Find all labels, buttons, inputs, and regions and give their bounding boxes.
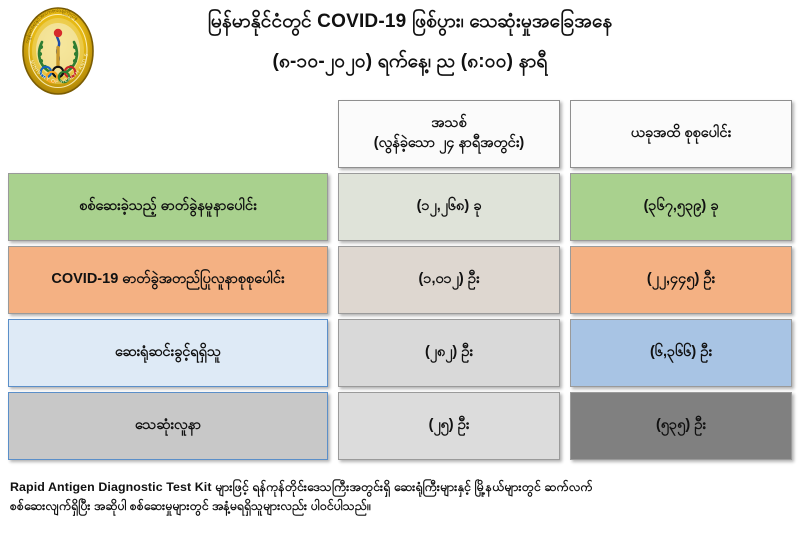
column-header-new: အသစ် (လွန်ခဲ့သော ၂၄ နာရီအတွင်း) [338, 100, 560, 168]
row-label-discharged: ဆေးရုံဆင်းခွင့်ရရှိသူ [8, 319, 328, 387]
table-row: COVID-19 ဓာတ်ခွဲအတည်ပြုလူနာစုစုပေါင်း (၁… [0, 246, 800, 314]
page-header: ကျန်းမာရေးနှင့်အားကစားဝန်ကြီးဌာန MINISTR… [0, 0, 800, 100]
row-label-deaths: သေဆုံးလူနာ [8, 392, 328, 460]
column-header-new-line1: အသစ် [374, 114, 524, 134]
table-header-row: အသစ် (လွန်ခဲ့သော ၂၄ နာရီအတွင်း) ယခုအထိ စ… [0, 100, 800, 168]
title-line-1: မြန်မာနိုင်ငံတွင် COVID-19 ဖြစ်ပွား၊ သေဆ… [110, 8, 710, 36]
column-header-new-line2: (လွန်ခဲ့သော ၂၄ နာရီအတွင်း) [374, 134, 524, 154]
footer-line-1: Rapid Antigen Diagnostic Test Kit များဖြ… [10, 478, 790, 497]
row-total-confirmed-cases: (၂၂,၄၄၅) ဦး [570, 246, 792, 314]
ministry-of-health-logo: ကျန်းမာရေးနှင့်အားကစားဝန်ကြီးဌာန MINISTR… [14, 6, 102, 96]
row-new-samples-tested: (၁၂,၂၆၈) ခု [338, 173, 560, 241]
header-label-spacer [8, 100, 328, 168]
row-total-samples-tested: (၃၆၇,၅၃၉) ခု [570, 173, 792, 241]
covid-summary-table: အသစ် (လွန်ခဲ့သော ၂၄ နာရီအတွင်း) ယခုအထိ စ… [0, 100, 800, 465]
page-title: မြန်မာနိုင်ငံတွင် COVID-19 ဖြစ်ပွား၊ သေဆ… [110, 8, 710, 75]
table-row: သေဆုံးလူနာ (၂၅) ဦး (၅၃၅) ဦး [0, 392, 800, 460]
footer-line-2: စစ်ဆေးလျက်ရှိပြီး အဆိုပါ စစ်ဆေးမှုများတွ… [10, 497, 790, 516]
row-label-samples-tested: စစ်ဆေးခဲ့သည့် ဓာတ်ခွဲနမူနာပေါင်း [8, 173, 328, 241]
row-total-deaths: (၅၃၅) ဦး [570, 392, 792, 460]
row-label-confirmed-cases: COVID-19 ဓာတ်ခွဲအတည်ပြုလူနာစုစုပေါင်း [8, 246, 328, 314]
table-row: ဆေးရုံဆင်းခွင့်ရရှိသူ (၂၈၂) ဦး (၆,၃၆၆) ဦ… [0, 319, 800, 387]
row-new-confirmed-cases: (၁,၀၁၂) ဦး [338, 246, 560, 314]
row-new-deaths: (၂၅) ဦး [338, 392, 560, 460]
table-row: စစ်ဆေးခဲ့သည့် ဓာတ်ခွဲနမူနာပေါင်း (၁၂,၂၆၈… [0, 173, 800, 241]
row-total-discharged: (၆,၃၆၆) ဦး [570, 319, 792, 387]
title-line-2: (၈-၁၀-၂၀၂၀) ရက်နေ့၊ ည (၈:၀၀) နာရီ [110, 48, 710, 76]
row-new-discharged: (၂၈၂) ဦး [338, 319, 560, 387]
column-header-total: ယခုအထိ စုစုပေါင်း [570, 100, 792, 168]
footer-note: Rapid Antigen Diagnostic Test Kit များဖြ… [10, 478, 790, 516]
